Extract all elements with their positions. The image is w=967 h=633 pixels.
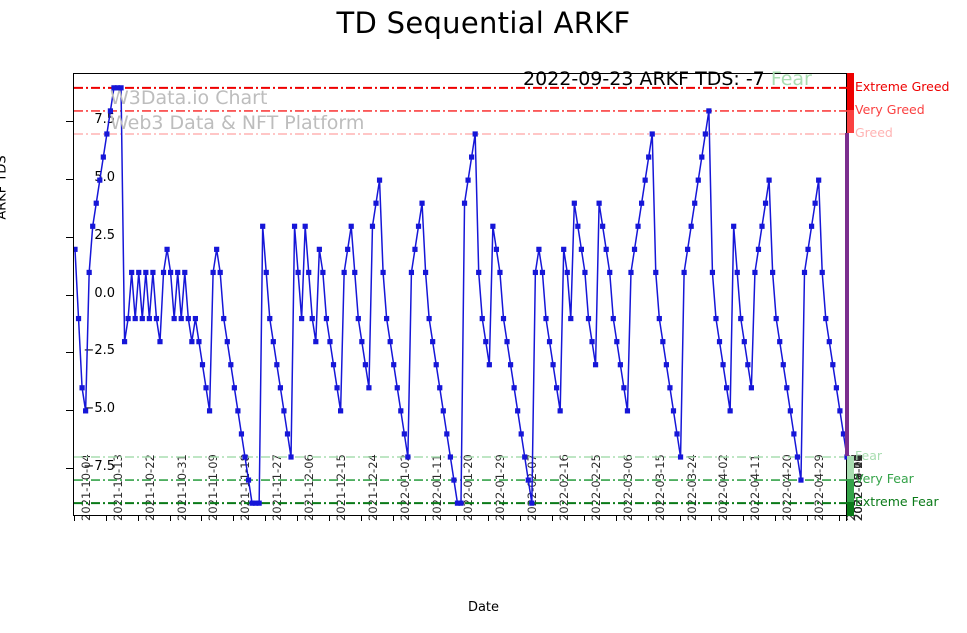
data-point-marker	[310, 316, 315, 321]
data-point-marker	[242, 454, 247, 459]
data-point-marker	[419, 201, 424, 206]
data-point-marker	[802, 270, 807, 275]
data-point-marker	[154, 316, 159, 321]
data-point-marker	[373, 201, 378, 206]
data-point-marker	[342, 270, 347, 275]
x-axis-label: Date	[0, 600, 967, 615]
plot-area	[73, 73, 847, 516]
data-point-marker	[770, 270, 775, 275]
data-point-marker	[643, 178, 648, 183]
data-point-marker	[327, 339, 332, 344]
data-point-marker	[218, 270, 223, 275]
data-point-marker	[703, 131, 708, 136]
data-point-marker	[473, 131, 478, 136]
data-point-marker	[724, 385, 729, 390]
data-point-marker	[540, 270, 545, 275]
data-point-marker	[512, 385, 517, 390]
data-point-marker	[380, 270, 385, 275]
data-point-marker	[699, 154, 704, 159]
data-point-marker	[536, 247, 541, 252]
data-point-marker	[607, 270, 612, 275]
data-point-marker	[710, 270, 715, 275]
data-point-marker	[685, 247, 690, 252]
zone-strip	[847, 456, 854, 479]
data-point-marker	[696, 178, 701, 183]
data-point-marker	[795, 454, 800, 459]
data-point-marker	[274, 362, 279, 367]
data-point-marker	[572, 201, 577, 206]
data-point-marker	[593, 362, 598, 367]
data-point-marker	[377, 178, 382, 183]
data-point-marker	[763, 201, 768, 206]
zone-label-fear: Fear	[855, 448, 882, 463]
data-point-marker	[759, 224, 764, 229]
data-point-marker	[416, 224, 421, 229]
data-point-marker	[497, 270, 502, 275]
data-point-marker	[74, 247, 78, 252]
data-point-marker	[660, 339, 665, 344]
data-point-marker	[228, 362, 233, 367]
data-point-marker	[232, 385, 237, 390]
data-point-marker	[179, 316, 184, 321]
data-point-marker	[682, 270, 687, 275]
data-point-marker	[752, 270, 757, 275]
current-value-marker	[845, 133, 849, 456]
data-point-marker	[465, 178, 470, 183]
data-point-marker	[823, 316, 828, 321]
data-point-marker	[430, 339, 435, 344]
data-point-marker	[635, 224, 640, 229]
data-point-marker	[657, 316, 662, 321]
data-point-marker	[356, 316, 361, 321]
data-point-marker	[671, 408, 676, 413]
data-point-marker	[444, 431, 449, 436]
data-point-marker	[267, 316, 272, 321]
data-point-marker	[586, 316, 591, 321]
data-point-marker	[568, 316, 573, 321]
data-point-marker	[561, 247, 566, 252]
data-point-marker	[288, 454, 293, 459]
data-point-marker	[172, 316, 177, 321]
data-point-marker	[827, 339, 832, 344]
data-point-marker	[186, 316, 191, 321]
zone-strip	[847, 73, 854, 110]
data-point-marker	[104, 131, 109, 136]
data-point-marker	[742, 339, 747, 344]
data-point-marker	[200, 362, 205, 367]
data-point-marker	[735, 270, 740, 275]
data-point-marker	[118, 85, 123, 90]
data-point-marker	[306, 270, 311, 275]
data-point-marker	[501, 316, 506, 321]
annotation-sentiment: Fear	[771, 68, 812, 90]
data-point-marker	[554, 385, 559, 390]
data-point-marker	[423, 270, 428, 275]
data-point-marker	[122, 339, 127, 344]
data-point-marker	[575, 224, 580, 229]
current-value-annotation: 2022-09-23 ARKF TDS: -7 Fear	[523, 68, 812, 90]
data-point-marker	[579, 247, 584, 252]
data-point-marker	[193, 316, 198, 321]
data-point-marker	[628, 270, 633, 275]
data-point-marker	[830, 362, 835, 367]
data-point-marker	[271, 339, 276, 344]
data-point-marker	[147, 316, 152, 321]
data-point-marker	[621, 385, 626, 390]
data-point-marker	[434, 362, 439, 367]
data-point-marker	[480, 316, 485, 321]
data-point-marker	[547, 339, 552, 344]
data-point-marker	[582, 270, 587, 275]
data-point-marker	[589, 339, 594, 344]
data-series-line	[75, 88, 847, 503]
data-point-marker	[296, 270, 301, 275]
data-point-marker	[246, 477, 251, 482]
data-point-marker	[189, 339, 194, 344]
data-point-marker	[412, 247, 417, 252]
data-point-marker	[395, 385, 400, 390]
data-point-marker	[713, 316, 718, 321]
zone-strip	[847, 479, 854, 502]
data-point-marker	[526, 477, 531, 482]
zone-label-very-fear: Very Fear	[855, 471, 914, 486]
data-point-marker	[370, 224, 375, 229]
data-point-marker	[427, 316, 432, 321]
data-point-marker	[129, 270, 134, 275]
data-point-marker	[650, 131, 655, 136]
data-point-marker	[689, 224, 694, 229]
data-point-marker	[533, 270, 538, 275]
data-point-marker	[211, 270, 216, 275]
data-point-marker	[363, 362, 368, 367]
data-point-marker	[143, 270, 148, 275]
data-point-marker	[706, 108, 711, 113]
y-axis-label: ARKF TDS	[0, 128, 10, 248]
data-point-marker	[292, 224, 297, 229]
data-point-marker	[731, 224, 736, 229]
data-point-marker	[653, 270, 658, 275]
data-point-marker	[639, 201, 644, 206]
data-point-marker	[133, 316, 138, 321]
data-point-marker	[774, 316, 779, 321]
data-point-marker	[101, 154, 106, 159]
zone-label-extreme-fear: Extreme Fear	[855, 494, 939, 509]
data-point-marker	[126, 316, 131, 321]
data-point-marker	[604, 247, 609, 252]
data-point-marker	[334, 385, 339, 390]
data-point-marker	[345, 247, 350, 252]
data-point-marker	[214, 247, 219, 252]
data-point-marker	[285, 431, 290, 436]
data-point-marker	[558, 408, 563, 413]
data-point-marker	[359, 339, 364, 344]
data-point-marker	[728, 408, 733, 413]
data-point-marker	[745, 362, 750, 367]
data-point-marker	[168, 270, 173, 275]
zone-strip	[847, 110, 854, 133]
data-point-marker	[618, 362, 623, 367]
data-point-marker	[600, 224, 605, 229]
data-point-marker	[462, 201, 467, 206]
data-point-marker	[597, 201, 602, 206]
data-point-marker	[717, 339, 722, 344]
data-point-marker	[494, 247, 499, 252]
series-plot	[74, 74, 848, 517]
data-point-marker	[388, 339, 393, 344]
data-point-marker	[614, 339, 619, 344]
data-point-marker	[207, 408, 212, 413]
data-point-marker	[487, 362, 492, 367]
data-point-marker	[221, 316, 226, 321]
data-point-marker	[738, 316, 743, 321]
data-point-marker	[405, 454, 410, 459]
data-point-marker	[720, 362, 725, 367]
page-title: TD Sequential ARKF	[0, 6, 967, 40]
data-point-marker	[837, 408, 842, 413]
data-point-marker	[150, 270, 155, 275]
data-point-marker	[508, 362, 513, 367]
data-point-marker	[97, 178, 102, 183]
data-point-marker	[646, 154, 651, 159]
data-point-marker	[108, 108, 113, 113]
data-point-marker	[834, 385, 839, 390]
data-point-marker	[87, 270, 92, 275]
data-point-marker	[79, 385, 84, 390]
data-point-marker	[398, 408, 403, 413]
data-point-marker	[805, 247, 810, 252]
data-point-marker	[515, 408, 520, 413]
data-point-marker	[299, 316, 304, 321]
data-point-marker	[338, 408, 343, 413]
data-point-marker	[458, 501, 463, 506]
data-point-marker	[678, 454, 683, 459]
data-point-marker	[522, 454, 527, 459]
data-point-marker	[784, 385, 789, 390]
data-point-marker	[260, 224, 265, 229]
data-point-marker	[756, 247, 761, 252]
data-point-marker	[235, 408, 240, 413]
data-point-marker	[94, 201, 99, 206]
data-point-marker	[476, 270, 481, 275]
data-point-marker	[550, 362, 555, 367]
data-point-marker	[565, 270, 570, 275]
data-point-marker	[83, 408, 88, 413]
data-point-marker	[437, 385, 442, 390]
data-point-marker	[441, 408, 446, 413]
data-point-marker	[303, 224, 308, 229]
data-point-marker	[469, 154, 474, 159]
data-point-marker	[402, 431, 407, 436]
data-point-marker	[320, 270, 325, 275]
data-point-marker	[140, 316, 145, 321]
zone-strip	[847, 502, 854, 516]
data-point-marker	[490, 224, 495, 229]
data-point-marker	[674, 431, 679, 436]
data-point-marker	[749, 385, 754, 390]
data-point-marker	[324, 316, 329, 321]
data-point-marker	[766, 178, 771, 183]
data-point-marker	[313, 339, 318, 344]
data-point-marker	[791, 431, 796, 436]
data-point-marker	[632, 247, 637, 252]
data-point-marker	[809, 224, 814, 229]
data-point-marker	[504, 339, 509, 344]
data-point-marker	[161, 270, 166, 275]
data-point-marker	[820, 270, 825, 275]
data-point-marker	[136, 270, 141, 275]
data-point-marker	[278, 385, 283, 390]
data-point-marker	[798, 477, 803, 482]
data-point-marker	[264, 270, 269, 275]
data-point-marker	[483, 339, 488, 344]
data-point-marker	[543, 316, 548, 321]
data-point-marker	[349, 224, 354, 229]
data-point-marker	[203, 385, 208, 390]
data-point-marker	[76, 316, 81, 321]
data-point-marker	[164, 247, 169, 252]
data-point-marker	[257, 501, 262, 506]
data-point-marker	[391, 362, 396, 367]
data-point-marker	[157, 339, 162, 344]
data-point-marker	[384, 316, 389, 321]
data-point-marker	[225, 339, 230, 344]
data-point-marker	[667, 385, 672, 390]
data-point-marker	[175, 270, 180, 275]
data-point-marker	[182, 270, 187, 275]
data-point-marker	[777, 339, 782, 344]
data-point-marker	[451, 477, 456, 482]
data-point-marker	[611, 316, 616, 321]
data-point-marker	[625, 408, 630, 413]
data-point-marker	[664, 362, 669, 367]
data-point-marker	[90, 224, 95, 229]
data-point-marker	[331, 362, 336, 367]
zone-label-extreme-greed: Extreme Greed	[855, 79, 949, 94]
annotation-text: 2022-09-23 ARKF TDS: -7	[523, 68, 765, 90]
data-point-marker	[239, 431, 244, 436]
data-point-marker	[816, 178, 821, 183]
data-point-marker	[519, 431, 524, 436]
data-point-marker	[813, 201, 818, 206]
chart-page: TD Sequential ARKF ARKF TDS Date 7.55.02…	[0, 0, 967, 633]
data-point-marker	[409, 270, 414, 275]
data-point-marker	[788, 408, 793, 413]
data-point-marker	[366, 385, 371, 390]
data-point-marker	[781, 362, 786, 367]
data-point-marker	[317, 247, 322, 252]
data-point-marker	[352, 270, 357, 275]
data-point-marker	[448, 454, 453, 459]
data-point-marker	[529, 501, 534, 506]
data-point-marker	[196, 339, 201, 344]
zone-label-very-greed: Very Greed	[855, 102, 925, 117]
data-point-marker	[692, 201, 697, 206]
zone-label-greed: Greed	[855, 125, 893, 140]
data-point-marker	[281, 408, 286, 413]
